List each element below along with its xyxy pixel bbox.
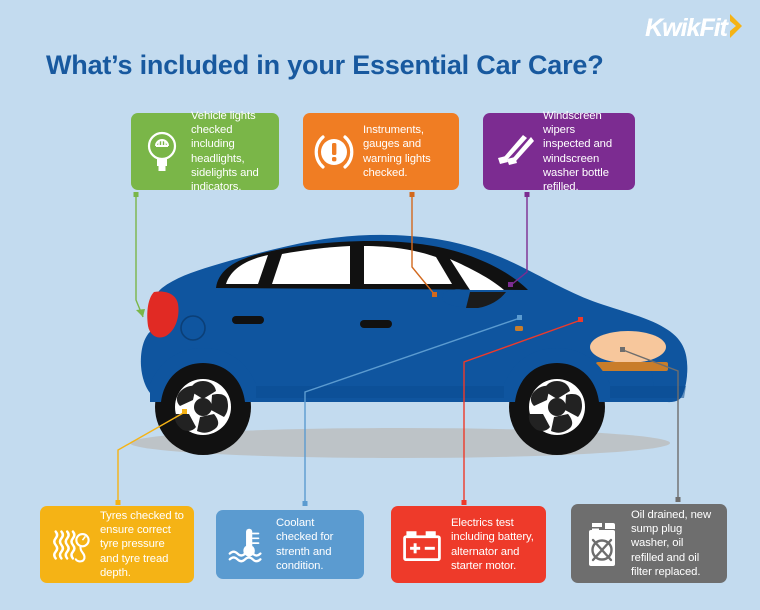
tyre-pressure-gauge-icon — [49, 520, 93, 570]
info-card-wipers[interactable]: Windscreen wipers inspected and windscre… — [483, 113, 635, 190]
info-card-wipers-text: Windscreen wipers inspected and windscre… — [543, 109, 625, 194]
car-windscreen — [450, 259, 504, 290]
info-card-electrics-text: Electrics test including battery, altern… — [451, 516, 536, 573]
info-card-instruments-text: Instruments, gauges and warning lights c… — [363, 123, 449, 180]
connector-wipers — [508, 192, 530, 287]
car-rear-wheel — [155, 359, 251, 455]
info-card-lights-text: Vehicle lights checked including headlig… — [191, 109, 269, 194]
car-front-bumper — [651, 330, 687, 402]
car-rear-quarter-window — [226, 255, 268, 284]
car-rear-arch — [150, 348, 256, 402]
connector-oil — [620, 347, 681, 502]
car-rear-door-handle — [232, 316, 264, 324]
connector-lights — [134, 192, 146, 317]
car-tail-light — [147, 292, 178, 338]
connector-instruments — [410, 192, 438, 297]
warning-exclamation-icon — [312, 127, 356, 177]
car-front-wheel — [509, 359, 605, 455]
oil-can-icon — [580, 519, 624, 569]
wiper-blades-icon — [492, 127, 536, 177]
car-a-pillar-shade — [466, 292, 506, 308]
connector-coolant — [303, 315, 523, 506]
info-card-tyres-text: Tyres checked to ensure correct tyre pre… — [100, 509, 184, 580]
car-body — [152, 235, 687, 402]
car-lower-shade — [160, 386, 686, 398]
info-card-tyres[interactable]: Tyres checked to ensure correct tyre pre… — [40, 506, 194, 583]
car-glass-surround — [216, 241, 528, 290]
infographic-canvas: KwikFit What’s included in your Essentia… — [0, 0, 760, 610]
info-card-oil-text: Oil drained, new sump plug washer, oil r… — [631, 508, 717, 579]
car-battery-icon — [400, 520, 444, 570]
kwikfit-logo[interactable]: KwikFit — [645, 14, 744, 42]
page-title: What’s included in your Essential Car Ca… — [46, 50, 604, 81]
chevron-right-icon — [728, 13, 744, 43]
logo-wordmark: KwikFit — [645, 16, 727, 41]
car-front-arch — [504, 348, 610, 402]
car-wing-mirror — [442, 289, 473, 306]
car-fuel-cap — [181, 316, 205, 340]
info-card-coolant-text: Coolant checked for strenth and conditio… — [276, 516, 354, 573]
car-indicator-light — [596, 362, 668, 371]
car-side-marker — [515, 326, 523, 331]
light-bulb-icon — [140, 127, 184, 177]
info-card-instruments[interactable]: Instruments, gauges and warning lights c… — [303, 113, 459, 190]
connector-electrics — [462, 317, 584, 505]
car-head-light — [590, 331, 666, 363]
car-front-door-handle — [360, 320, 392, 328]
info-card-coolant[interactable]: Coolant checked for strenth and conditio… — [216, 510, 364, 579]
connector-tyres — [116, 409, 188, 505]
thermometer-water-icon — [225, 520, 269, 570]
car-front-door-window — [364, 246, 452, 284]
info-card-lights[interactable]: Vehicle lights checked including headlig… — [131, 113, 279, 190]
car-shadow — [130, 428, 670, 458]
info-card-electrics[interactable]: Electrics test including battery, altern… — [391, 506, 546, 583]
car-rear-door-window — [272, 246, 350, 284]
car-rear-bumper — [141, 330, 178, 398]
info-card-oil[interactable]: Oil drained, new sump plug washer, oil r… — [571, 504, 727, 583]
